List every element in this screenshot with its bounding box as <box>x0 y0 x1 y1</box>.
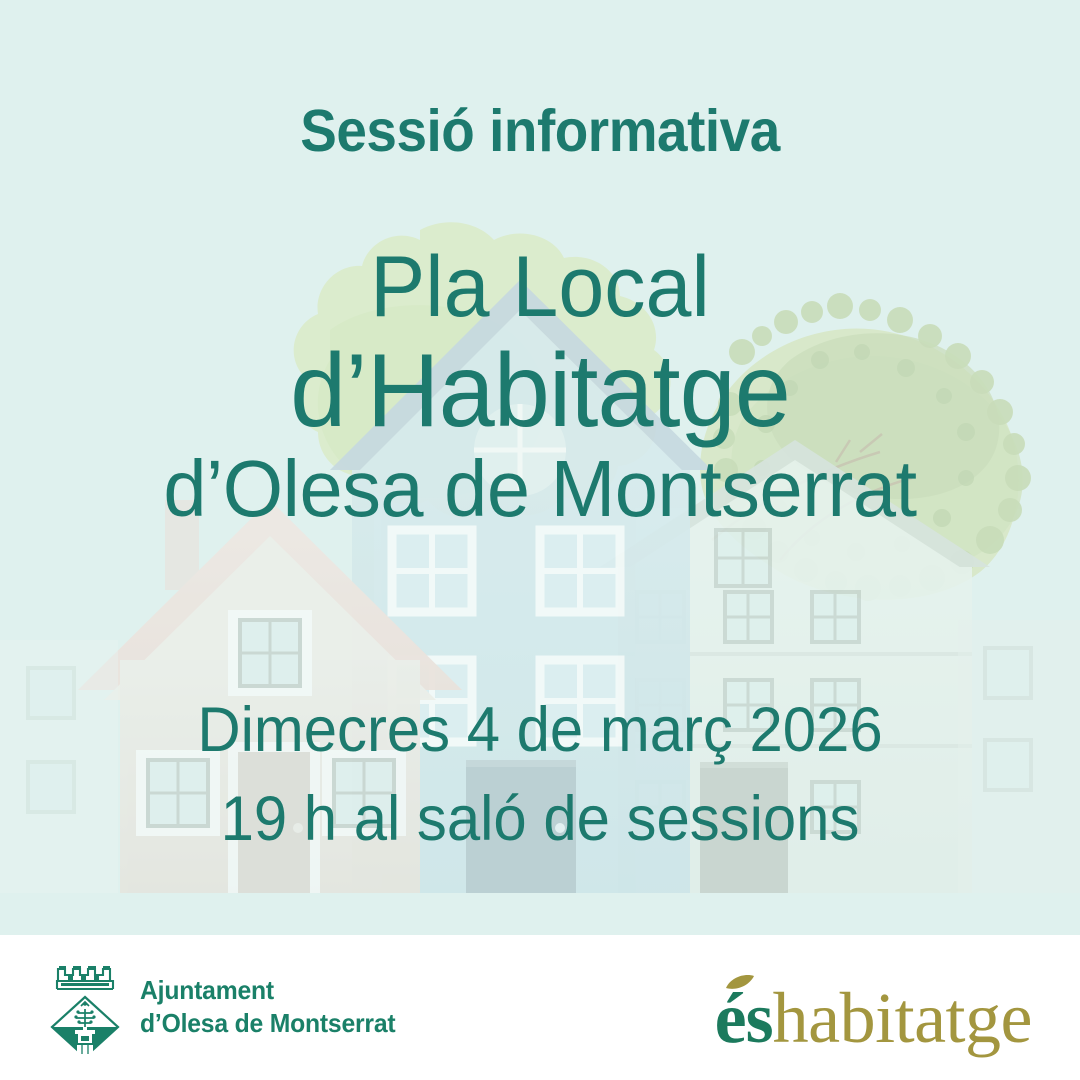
title-line-3: d’Olesa de Montserrat <box>16 443 1064 535</box>
ajuntament-logo: Ajuntament d’Olesa de Montserrat <box>48 955 409 1059</box>
olesa-coat-of-arms-icon <box>48 955 122 1059</box>
ajuntament-line-1: Ajuntament <box>140 974 395 1007</box>
kicker-text: Sessió informativa <box>38 97 1042 165</box>
event-time-place: 19 h al saló de sessions <box>27 783 1053 855</box>
title-line-2: d’Habitatge <box>16 332 1064 451</box>
eshabitatge-logo: és habitatge <box>715 977 1032 1060</box>
event-date: Dimecres 4 de març 2026 <box>27 694 1053 766</box>
eshabitatge-prefix: és <box>715 977 773 1060</box>
eshabitatge-prefix-text: és <box>715 978 773 1058</box>
footer-bar: Ajuntament d’Olesa de Montserrat és habi… <box>0 935 1080 1080</box>
ajuntament-line-2: d’Olesa de Montserrat <box>140 1007 395 1040</box>
ajuntament-label: Ajuntament d’Olesa de Montserrat <box>140 974 395 1040</box>
poster: Sessió informativa Pla Local d’Habitatge… <box>0 0 1080 1080</box>
eshabitatge-suffix: habitatge <box>773 977 1032 1060</box>
leaf-icon <box>725 975 755 990</box>
poster-canvas: Sessió informativa Pla Local d’Habitatge… <box>0 0 1080 935</box>
poster-text: Sessió informativa Pla Local d’Habitatge… <box>0 0 1080 935</box>
title-line-1: Pla Local <box>22 238 1059 337</box>
